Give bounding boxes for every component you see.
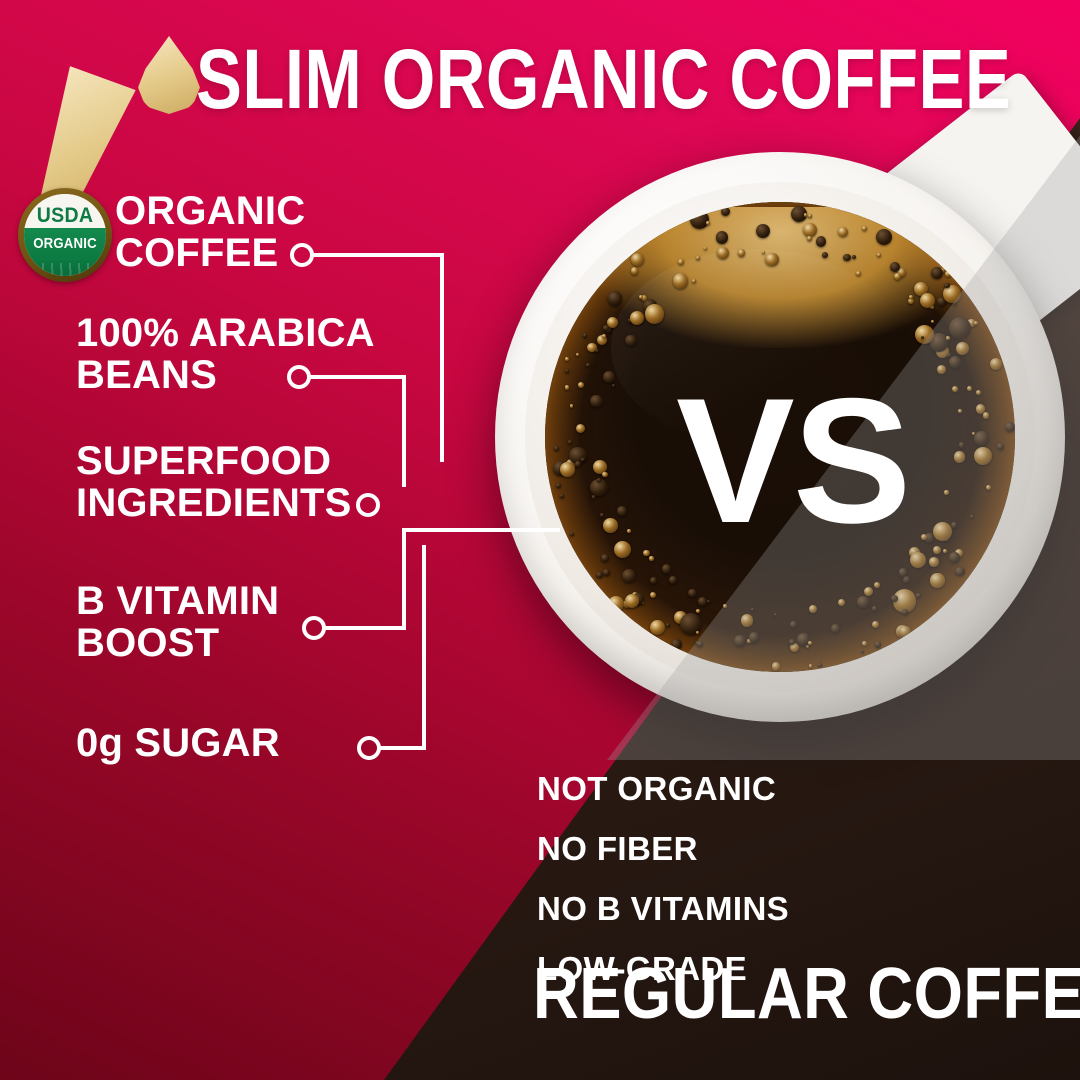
- usda-seal-top-text: USDA: [27, 204, 103, 228]
- usda-seal-bottom-text: ORGANIC: [29, 235, 101, 252]
- usda-seal-inner: USDA ORGANIC: [24, 194, 106, 276]
- con-item: NO B VITAMINS: [537, 890, 789, 928]
- con-item: NO FIBER: [537, 830, 789, 868]
- infographic-canvas: SLIM ORGANIC COFFEE USDA ORGANIC ORGANIC…: [0, 0, 1080, 1080]
- feature-label-b-vitamin-boost: B VITAMIN BOOST: [76, 580, 279, 665]
- feature-label-organic-coffee: ORGANIC COFFEE: [115, 190, 305, 275]
- versus-label: VS: [676, 372, 909, 550]
- feature-label-superfood-ingredients: SUPERFOOD INGREDIENTS: [76, 440, 352, 525]
- regular-coffee-heading: REGULAR COFFEE: [533, 958, 1080, 1030]
- v-droplet-logo-icon: [58, 28, 188, 168]
- con-item: NOT ORGANIC: [537, 770, 789, 808]
- feature-label-zero-sugar: 0g SUGAR: [76, 722, 280, 764]
- usda-organic-seal: USDA ORGANIC: [18, 188, 112, 282]
- feature-label-arabica-beans: 100% ARABICA BEANS: [76, 312, 375, 397]
- page-title: SLIM ORGANIC COFFEE: [196, 38, 1011, 120]
